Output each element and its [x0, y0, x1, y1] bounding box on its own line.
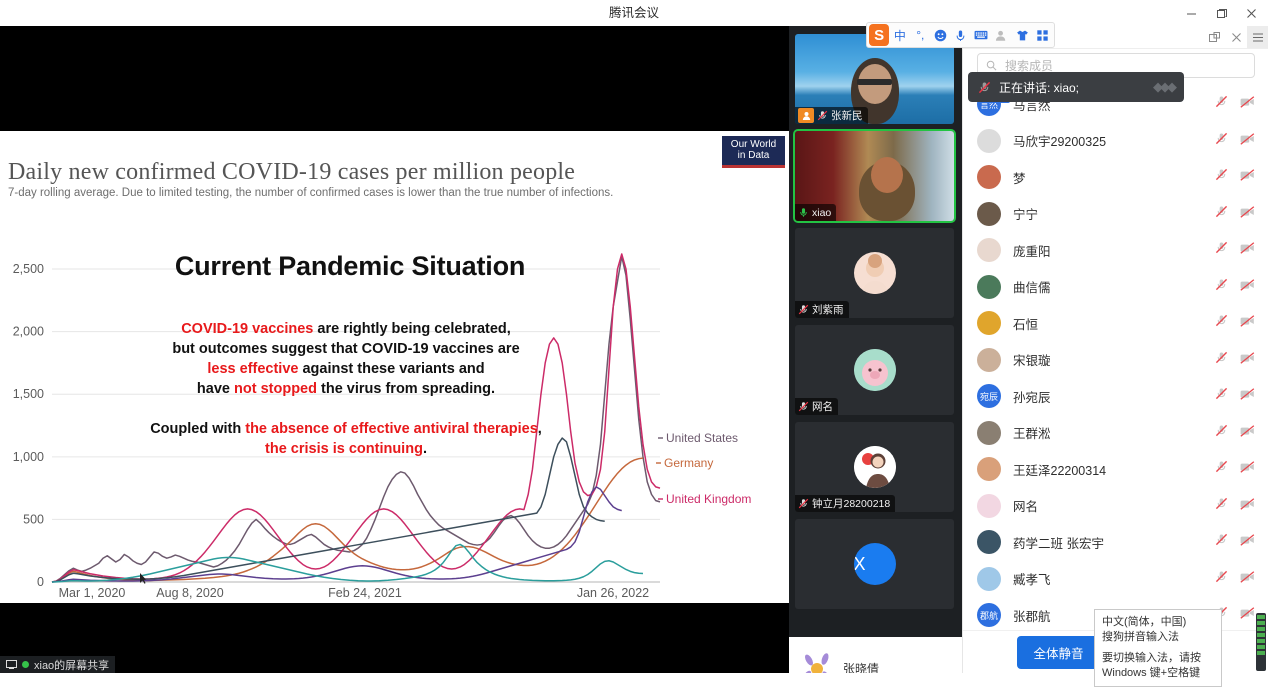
mic-muted-icon[interactable]	[1215, 205, 1228, 218]
p1-line-2: but outcomes suggest that COVID-19 vacci…	[172, 341, 519, 357]
avatar-initial-text: X	[854, 554, 866, 574]
mic-toggle[interactable]	[1215, 278, 1228, 296]
participant-controls	[1215, 424, 1255, 442]
camera-toggle[interactable]	[1240, 314, 1255, 332]
monitor-icon	[6, 660, 17, 669]
sogou-logo-icon[interactable]: S	[869, 24, 889, 46]
p2-line2-post: .	[423, 441, 427, 457]
camera-off-icon[interactable]	[1240, 279, 1255, 291]
mic-active-icon	[798, 207, 809, 218]
participant-row[interactable]: 王廷泽22200314	[963, 451, 1268, 488]
participant-row[interactable]: 宁宁	[963, 196, 1268, 233]
p2-post: ,	[538, 421, 542, 437]
title-bar: 腾讯会议	[0, 0, 1268, 26]
ime-tip-line-4: Windows 键+空格键	[1102, 666, 1214, 681]
mic-icon[interactable]	[951, 24, 970, 46]
mic-muted-icon[interactable]	[1215, 278, 1228, 291]
participant-row[interactable]: 曲信儒	[963, 269, 1268, 306]
shared-screen-area: Daily new confirmed COVID-19 cases per m…	[0, 26, 789, 673]
participant-controls	[1215, 168, 1255, 186]
ime-tip-line-1: 中文(简体，中国)	[1102, 615, 1214, 630]
skin-icon[interactable]	[1012, 24, 1031, 46]
participant-controls	[1215, 460, 1255, 478]
tile-name-4: 钟立月28200218	[812, 496, 890, 511]
mic-muted-icon[interactable]	[1215, 132, 1228, 145]
keyboard-icon[interactable]	[972, 24, 991, 46]
participant-row[interactable]: 王群淞	[963, 415, 1268, 452]
avatar	[977, 494, 1001, 518]
camera-toggle[interactable]	[1240, 351, 1255, 369]
participant-controls	[1215, 533, 1255, 551]
participant-row[interactable]: 网名	[963, 488, 1268, 525]
participant-row[interactable]: 臧孝飞	[963, 561, 1268, 598]
participants-panel: 言然马言然 主持人马欣宇29200325 梦 宁宁 庞重阳 曲信儒 石恒 宋银璇…	[962, 26, 1268, 673]
video-tile-5[interactable]: X	[795, 519, 954, 609]
camera-toggle[interactable]	[1240, 570, 1255, 588]
user-icon[interactable]	[992, 24, 1011, 46]
scroll-indicator[interactable]	[1256, 613, 1266, 671]
mic-muted-icon	[817, 110, 828, 121]
participant-row[interactable]: 宋银璇	[963, 342, 1268, 379]
mic-muted-icon[interactable]	[1215, 168, 1228, 181]
camera-toggle[interactable]	[1240, 168, 1255, 186]
participant-row[interactable]: 庞重阳	[963, 232, 1268, 269]
participant-row[interactable]: 马欣宇29200325	[963, 123, 1268, 160]
tencent-meeting-window: 腾讯会议 Daily new confirmed COVID-19 cases …	[0, 0, 1268, 673]
camera-off-icon[interactable]	[1240, 96, 1255, 108]
ime-tip-line-2: 搜狗拼音输入法	[1102, 630, 1214, 645]
mic-toggle[interactable]	[1215, 241, 1228, 259]
ime-punctuation-button[interactable]: °,	[911, 24, 930, 46]
avatar	[977, 311, 1001, 335]
menu-icon[interactable]	[1247, 26, 1268, 48]
y-axis-tick-label: 500	[23, 512, 44, 526]
participant-controls	[1215, 95, 1255, 113]
camera-toggle[interactable]	[1240, 533, 1255, 551]
mute-all-button[interactable]: 全体静音	[1017, 636, 1099, 669]
avatar	[977, 348, 1001, 372]
p2-red: the absence of effective antiviral thera…	[245, 421, 538, 437]
video-tile-4[interactable]: 钟立月28200218	[795, 422, 954, 512]
speaking-now-text: 正在讲话: xiao;	[999, 79, 1079, 96]
popout-icon[interactable]	[1203, 26, 1225, 48]
mic-toggle[interactable]	[1215, 168, 1228, 186]
camera-off-icon[interactable]	[1240, 571, 1255, 583]
p1-rest-2: against these variants and	[298, 361, 484, 377]
participant-name: 庞重阳	[1013, 241, 1051, 260]
mic-muted-icon[interactable]	[1215, 387, 1228, 400]
camera-toggle[interactable]	[1240, 241, 1255, 259]
avatar	[977, 567, 1001, 591]
camera-off-icon[interactable]	[1240, 206, 1255, 218]
camera-off-icon[interactable]	[1240, 498, 1255, 510]
window-title: 腾讯会议	[0, 0, 1268, 26]
camera-off-icon[interactable]	[1240, 461, 1255, 473]
avatar: 宛辰	[977, 384, 1001, 408]
tile-nametag-0: 张新民	[795, 107, 868, 124]
camera-off-icon[interactable]	[1240, 352, 1255, 364]
mic-muted-icon[interactable]	[1215, 497, 1228, 510]
mic-muted-icon	[798, 498, 809, 509]
participant-row[interactable]: 石恒	[963, 305, 1268, 342]
mic-toggle[interactable]	[1215, 570, 1228, 588]
avatar-image	[854, 446, 896, 488]
participant-list[interactable]: 言然马言然 主持人马欣宇29200325 梦 宁宁 庞重阳 曲信儒 石恒 宋银璇…	[963, 86, 1268, 656]
mic-muted-icon	[978, 81, 991, 94]
shared-slide: Daily new confirmed COVID-19 cases per m…	[0, 131, 789, 603]
participant-controls	[1215, 387, 1255, 405]
participant-row[interactable]: 药学二班 张宏宇	[963, 524, 1268, 561]
slide-paragraph-2: Coupled with the absence of effective an…	[0, 419, 692, 459]
avatar	[977, 275, 1001, 299]
mouse-cursor-icon	[140, 573, 146, 584]
screen-share-status-bar: xiao的屏幕共享	[0, 656, 115, 673]
camera-off-icon[interactable]	[1240, 169, 1255, 181]
participant-face	[871, 157, 903, 193]
ime-language-button[interactable]: 中	[890, 24, 909, 46]
camera-off-icon[interactable]	[1240, 133, 1255, 145]
participant-name: 孙宛辰	[1013, 387, 1051, 406]
screen-letterbox-top	[0, 26, 789, 131]
mic-muted-icon[interactable]	[1215, 314, 1228, 327]
minimize-button[interactable]	[1176, 0, 1206, 26]
series-line	[52, 487, 622, 582]
participant-controls	[1215, 278, 1255, 296]
close-icon[interactable]	[1225, 26, 1247, 48]
avatar-image	[799, 650, 835, 673]
ime-toolbar[interactable]: S 中 °,	[866, 22, 1055, 48]
tile-nametag-1: xiao	[795, 204, 836, 221]
glasses-icon	[857, 79, 892, 85]
host-badge-icon	[798, 108, 814, 123]
mic-toggle[interactable]	[1215, 533, 1228, 551]
mic-muted-icon[interactable]	[1215, 424, 1228, 437]
slide-headline: Current Pandemic Situation	[0, 251, 700, 282]
p1-red-1: COVID-19 vaccines	[181, 321, 313, 337]
participant-name: 王廷泽22200314	[1013, 460, 1106, 479]
tile-name-1: xiao	[812, 207, 831, 219]
video-tile-3[interactable]: 网名	[795, 325, 954, 415]
participant-controls	[1215, 497, 1255, 515]
avatar-image	[854, 252, 896, 294]
x-axis-tick-label: Feb 24, 2021	[328, 586, 402, 600]
mic-toggle[interactable]	[1215, 424, 1228, 442]
participant-controls	[1215, 205, 1255, 223]
p2-line2-red: the crisis is continuing	[265, 441, 423, 457]
participant-row[interactable]: 宛辰孙宛辰	[963, 378, 1268, 415]
tile-name-3: 网名	[812, 399, 833, 414]
screen-letterbox-bottom	[0, 603, 789, 673]
mic-muted-icon[interactable]	[1215, 570, 1228, 583]
camera-off-icon[interactable]	[1240, 425, 1255, 437]
camera-off-icon[interactable]	[1240, 534, 1255, 546]
speaking-now-toast: 正在讲话: xiao; ◆◆◆	[968, 72, 1184, 102]
series-end-label: United Kingdom	[666, 492, 751, 506]
participant-name: 宁宁	[1013, 204, 1038, 223]
mic-muted-icon[interactable]	[1215, 460, 1228, 473]
waveform-icon: ◆◆◆	[1153, 79, 1174, 95]
camera-toggle[interactable]	[1240, 132, 1255, 150]
avatar: 郡航	[977, 603, 1001, 627]
participant-name: 宋银璇	[1013, 350, 1051, 369]
mic-toggle[interactable]	[1215, 460, 1228, 478]
ime-tip-line-3: 要切换输入法，请按	[1102, 651, 1214, 666]
slide-paragraph-1: COVID-19 vaccines are rightly being cele…	[0, 319, 692, 399]
video-tile-2[interactable]: 刘紫雨	[795, 228, 954, 318]
p1-red-2: less effective	[207, 361, 298, 377]
avatar	[977, 530, 1001, 554]
tile-nametag-4: 钟立月28200218	[795, 495, 895, 512]
mic-toggle[interactable]	[1215, 95, 1228, 113]
sharing-indicator-dot	[22, 661, 29, 668]
camera-toggle[interactable]	[1240, 497, 1255, 515]
mic-muted-icon	[798, 401, 809, 412]
tile-nametag-2: 刘紫雨	[795, 301, 849, 318]
participant-name-popup: 张晓倩	[789, 637, 962, 673]
ime-language-tooltip: 中文(简体，中国) 搜狗拼音输入法 要切换输入法，请按 Windows 键+空格…	[1094, 609, 1222, 687]
camera-off-icon[interactable]	[1240, 388, 1255, 400]
maximize-button[interactable]	[1206, 0, 1236, 26]
participant-controls	[1215, 314, 1255, 332]
participant-controls	[1215, 132, 1255, 150]
participant-controls	[1215, 570, 1255, 588]
camera-toggle[interactable]	[1240, 205, 1255, 223]
camera-toggle[interactable]	[1240, 95, 1255, 113]
avatar-image	[854, 349, 896, 391]
avatar	[977, 238, 1001, 262]
mic-muted-icon[interactable]	[1215, 351, 1228, 364]
tile-name-0: 张新民	[831, 108, 863, 123]
camera-off-icon[interactable]	[1240, 607, 1255, 619]
apps-icon[interactable]	[1033, 24, 1052, 46]
p1-red-3: not stopped	[234, 381, 317, 397]
popup-participant-name: 张晓倩	[843, 660, 879, 674]
participant-controls	[1215, 241, 1255, 259]
screen-share-label: xiao的屏幕共享	[34, 657, 109, 673]
participant-row[interactable]: 梦	[963, 159, 1268, 196]
camera-toggle[interactable]	[1240, 424, 1255, 442]
participant-name: 张郡航	[1013, 606, 1051, 625]
p1-post-3: the virus from spreading.	[317, 381, 495, 397]
avatar-initial: X	[854, 543, 896, 585]
avatar	[977, 129, 1001, 153]
y-axis-tick-label: 0	[37, 575, 44, 589]
mic-toggle[interactable]	[1215, 351, 1228, 369]
camera-toggle[interactable]	[1240, 606, 1255, 624]
tile-name-2: 刘紫雨	[812, 302, 844, 317]
mic-muted-icon[interactable]	[1215, 533, 1228, 546]
avatar	[977, 202, 1001, 226]
p2-pre: Coupled with	[150, 421, 245, 437]
participant-name: 药学二班 张宏宇	[1013, 533, 1104, 552]
video-tile-1[interactable]: xiao	[795, 131, 954, 221]
participant-name: 曲信儒	[1013, 277, 1051, 296]
participant-name: 网名	[1013, 496, 1038, 515]
mic-muted-icon	[798, 304, 809, 315]
participant-name: 马欣宇29200325	[1013, 131, 1106, 150]
mic-muted-icon[interactable]	[1215, 241, 1228, 254]
emoji-icon[interactable]	[931, 24, 950, 46]
participant-name: 王群淞	[1013, 423, 1051, 442]
x-axis-tick-label: Aug 8, 2020	[156, 586, 223, 600]
window-controls	[1176, 0, 1266, 26]
mic-toggle[interactable]	[1215, 205, 1228, 223]
avatar	[977, 421, 1001, 445]
mic-toggle[interactable]	[1215, 314, 1228, 332]
mic-muted-icon[interactable]	[1215, 95, 1228, 108]
search-icon	[986, 60, 997, 71]
camera-off-icon[interactable]	[1240, 315, 1255, 327]
mic-toggle[interactable]	[1215, 387, 1228, 405]
participant-name: 石恒	[1013, 314, 1038, 333]
participant-controls	[1215, 351, 1255, 369]
video-filmstrip: 张新民 xiao	[789, 26, 962, 673]
avatar	[977, 457, 1001, 481]
p1-pre-3: have	[197, 381, 234, 397]
x-axis-tick-label: Jan 26, 2022	[577, 586, 649, 600]
p1-rest-1: are rightly being celebrated,	[313, 321, 510, 337]
camera-off-icon[interactable]	[1240, 242, 1255, 254]
participant-name: 臧孝飞	[1013, 569, 1051, 588]
series-line	[52, 458, 643, 582]
participant-name: 梦	[1013, 168, 1026, 187]
camera-toggle[interactable]	[1240, 460, 1255, 478]
tile-nametag-3: 网名	[795, 398, 838, 415]
x-axis-tick-label: Mar 1, 2020	[59, 586, 126, 600]
mic-toggle[interactable]	[1215, 132, 1228, 150]
avatar	[977, 165, 1001, 189]
camera-toggle[interactable]	[1240, 387, 1255, 405]
camera-toggle[interactable]	[1240, 278, 1255, 296]
close-button[interactable]	[1236, 0, 1266, 26]
mic-toggle[interactable]	[1215, 497, 1228, 515]
